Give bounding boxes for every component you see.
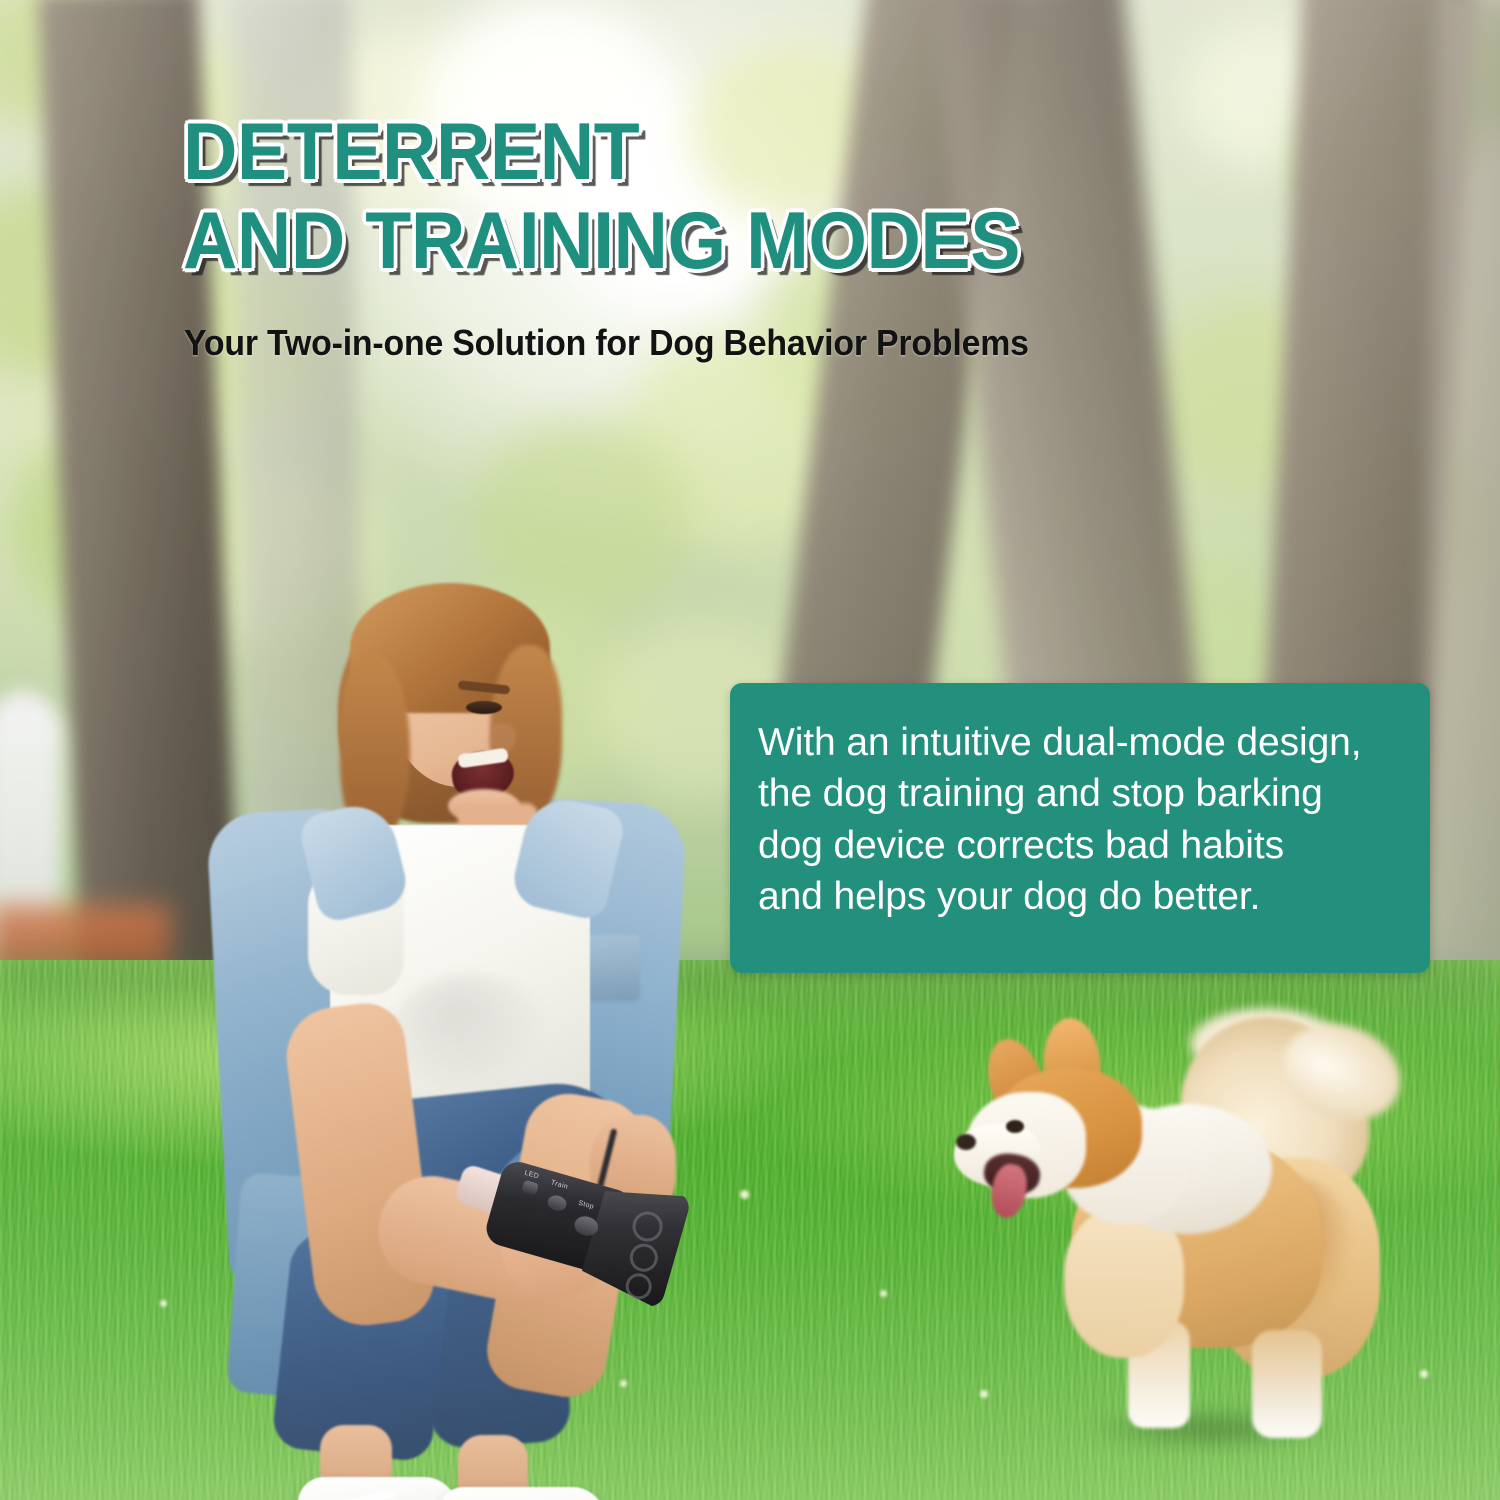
page-subtitle: Your Two-in-one Solution for Dog Behavio… xyxy=(184,322,1029,364)
feature-callout-text: With an intuitive dual-mode design, the … xyxy=(758,717,1408,923)
corgi-dog xyxy=(952,1008,1382,1438)
sneaker-right xyxy=(438,1487,606,1500)
eye xyxy=(466,701,502,714)
dog-eye xyxy=(1006,1120,1024,1133)
dog-nose xyxy=(956,1134,976,1150)
page-title: DETERRENTAND TRAINING MODES xyxy=(183,112,1280,281)
tshirt-fold-shadow xyxy=(390,975,550,1095)
feature-callout-box: With an intuitive dual-mode design, the … xyxy=(730,683,1430,973)
dog-hind-leg xyxy=(1252,1330,1322,1438)
product-lifestyle-banner: LED Train Stop DETERRENTAND TRAINING MOD… xyxy=(0,0,1500,1500)
headline-line-2: AND TRAINING MODES xyxy=(183,201,1280,281)
headline-line-1: DETERRENT xyxy=(183,107,639,197)
